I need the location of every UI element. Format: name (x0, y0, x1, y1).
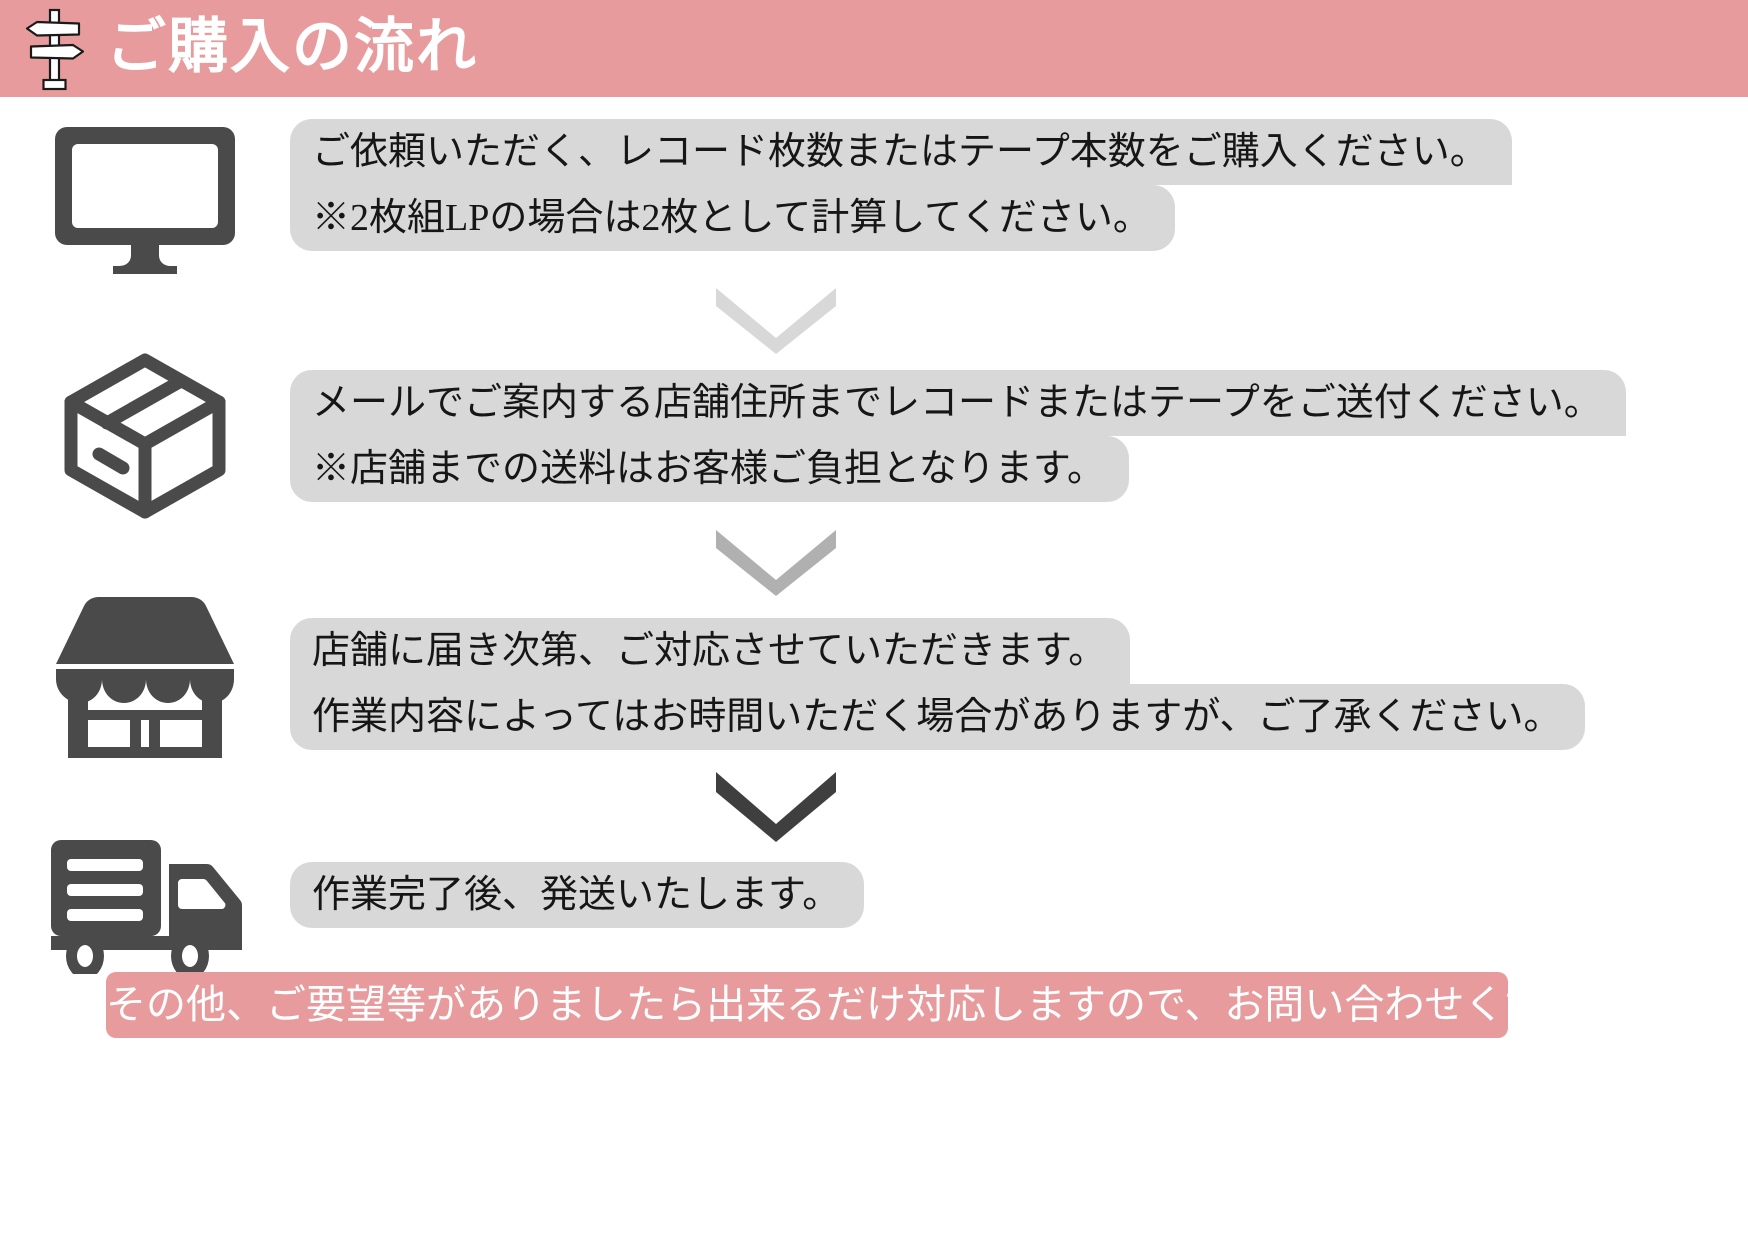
flow-step-4-line-1-text: 作業完了後、発送いたします。 (312, 862, 840, 928)
flow-step-3-icon-wrap (0, 592, 290, 762)
delivery-truck-icon (45, 834, 245, 974)
flow-step-2-balloon-wrap: メールでご案内する店舗住所までレコードまたはテープをご送付ください。 ※店舗まで… (290, 350, 1748, 507)
page-header: ご購入の流れ (0, 0, 1748, 97)
flow-step-1-icon-wrap (0, 119, 290, 274)
flow-step-1-line-1-text: ご依頼いただく、レコード枚数またはテープ本数をご購入ください。 (312, 119, 1488, 185)
storefront-icon (50, 592, 240, 762)
arrow-row-2 (0, 522, 1748, 602)
page-title: ご購入の流れ (106, 17, 478, 77)
flow-step-3: 店舗に届き次第、ご対応させていただきます。 作業内容によってはお時間いただく場合… (0, 592, 1748, 762)
flow-step-3-line-1: 店舗に届き次第、ご対応させていただきます。 (290, 618, 1130, 684)
arrow-row-1 (0, 274, 1748, 358)
flow-step-2-line-1: メールでご案内する店舗住所までレコードまたはテープをご送付ください。 (290, 370, 1626, 436)
signpost-icon (18, 4, 92, 94)
flow-step-1-line-2-text: ※2枚組LPの場合は2枚として計算してください。 (312, 185, 1151, 251)
flow-step-2-icon-wrap (0, 350, 290, 522)
chevron-down-arrow-1 (716, 288, 836, 354)
flow-step-2-line-1-text: メールでご案内する店舗住所までレコードまたはテープをご送付ください。 (312, 370, 1602, 436)
flow-step-3-line-2: 作業内容によってはお時間いただく場合がありますが、ご了承ください。 (290, 684, 1585, 750)
purchase-flow-steps: ご依頼いただく、レコード枚数またはテープ本数をご購入ください。 ※2枚組LPの場… (0, 97, 1748, 974)
flow-step-2-line-2: ※店舗までの送料はお客様ご負担となります。 (290, 436, 1129, 502)
flow-step-4-line-1: 作業完了後、発送いたします。 (290, 862, 864, 928)
flow-step-3-balloon: 店舗に届き次第、ご対応させていただきます。 作業内容によってはお時間いただく場合… (290, 618, 1585, 750)
flow-step-4: 作業完了後、発送いたします。 (0, 834, 1748, 974)
flow-step-2: メールでご案内する店舗住所までレコードまたはテープをご送付ください。 ※店舗まで… (0, 350, 1748, 522)
flow-step-4-balloon-wrap: 作業完了後、発送いたします。 (290, 834, 1748, 933)
package-box-icon (57, 350, 233, 522)
flow-step-2-balloon: メールでご案内する店舗住所までレコードまたはテープをご送付ください。 ※店舗まで… (290, 370, 1626, 502)
monitor-icon (55, 119, 235, 274)
chevron-down-arrow-2 (716, 530, 836, 596)
flow-step-2-line-2-text: ※店舗までの送料はお客様ご負担となります。 (312, 436, 1105, 502)
flow-step-3-balloon-wrap: 店舗に届き次第、ご対応させていただきます。 作業内容によってはお時間いただく場合… (290, 592, 1748, 755)
flow-step-3-line-1-text: 店舗に届き次第、ご対応させていただきます。 (312, 618, 1106, 684)
flow-step-4-balloon: 作業完了後、発送いたします。 (290, 862, 864, 928)
flow-step-1-line-2: ※2枚組LPの場合は2枚として計算してください。 (290, 185, 1175, 251)
chevron-down-arrow-3 (716, 772, 836, 842)
flow-step-4-icon-wrap (0, 834, 290, 974)
flow-step-1: ご依頼いただく、レコード枚数またはテープ本数をご購入ください。 ※2枚組LPの場… (0, 97, 1748, 274)
flow-step-1-line-1: ご依頼いただく、レコード枚数またはテープ本数をご購入ください。 (290, 119, 1512, 185)
flow-step-1-balloon: ご依頼いただく、レコード枚数またはテープ本数をご購入ください。 ※2枚組LPの場… (290, 119, 1512, 251)
contact-banner: その他、ご要望等がありましたら出来るだけ対応しますので、お問い合わせください。 (106, 972, 1508, 1038)
flow-step-1-balloon-wrap: ご依頼いただく、レコード枚数またはテープ本数をご購入ください。 ※2枚組LPの場… (290, 119, 1748, 256)
flow-step-3-line-2-text: 作業内容によってはお時間いただく場合がありますが、ご了承ください。 (312, 684, 1561, 750)
